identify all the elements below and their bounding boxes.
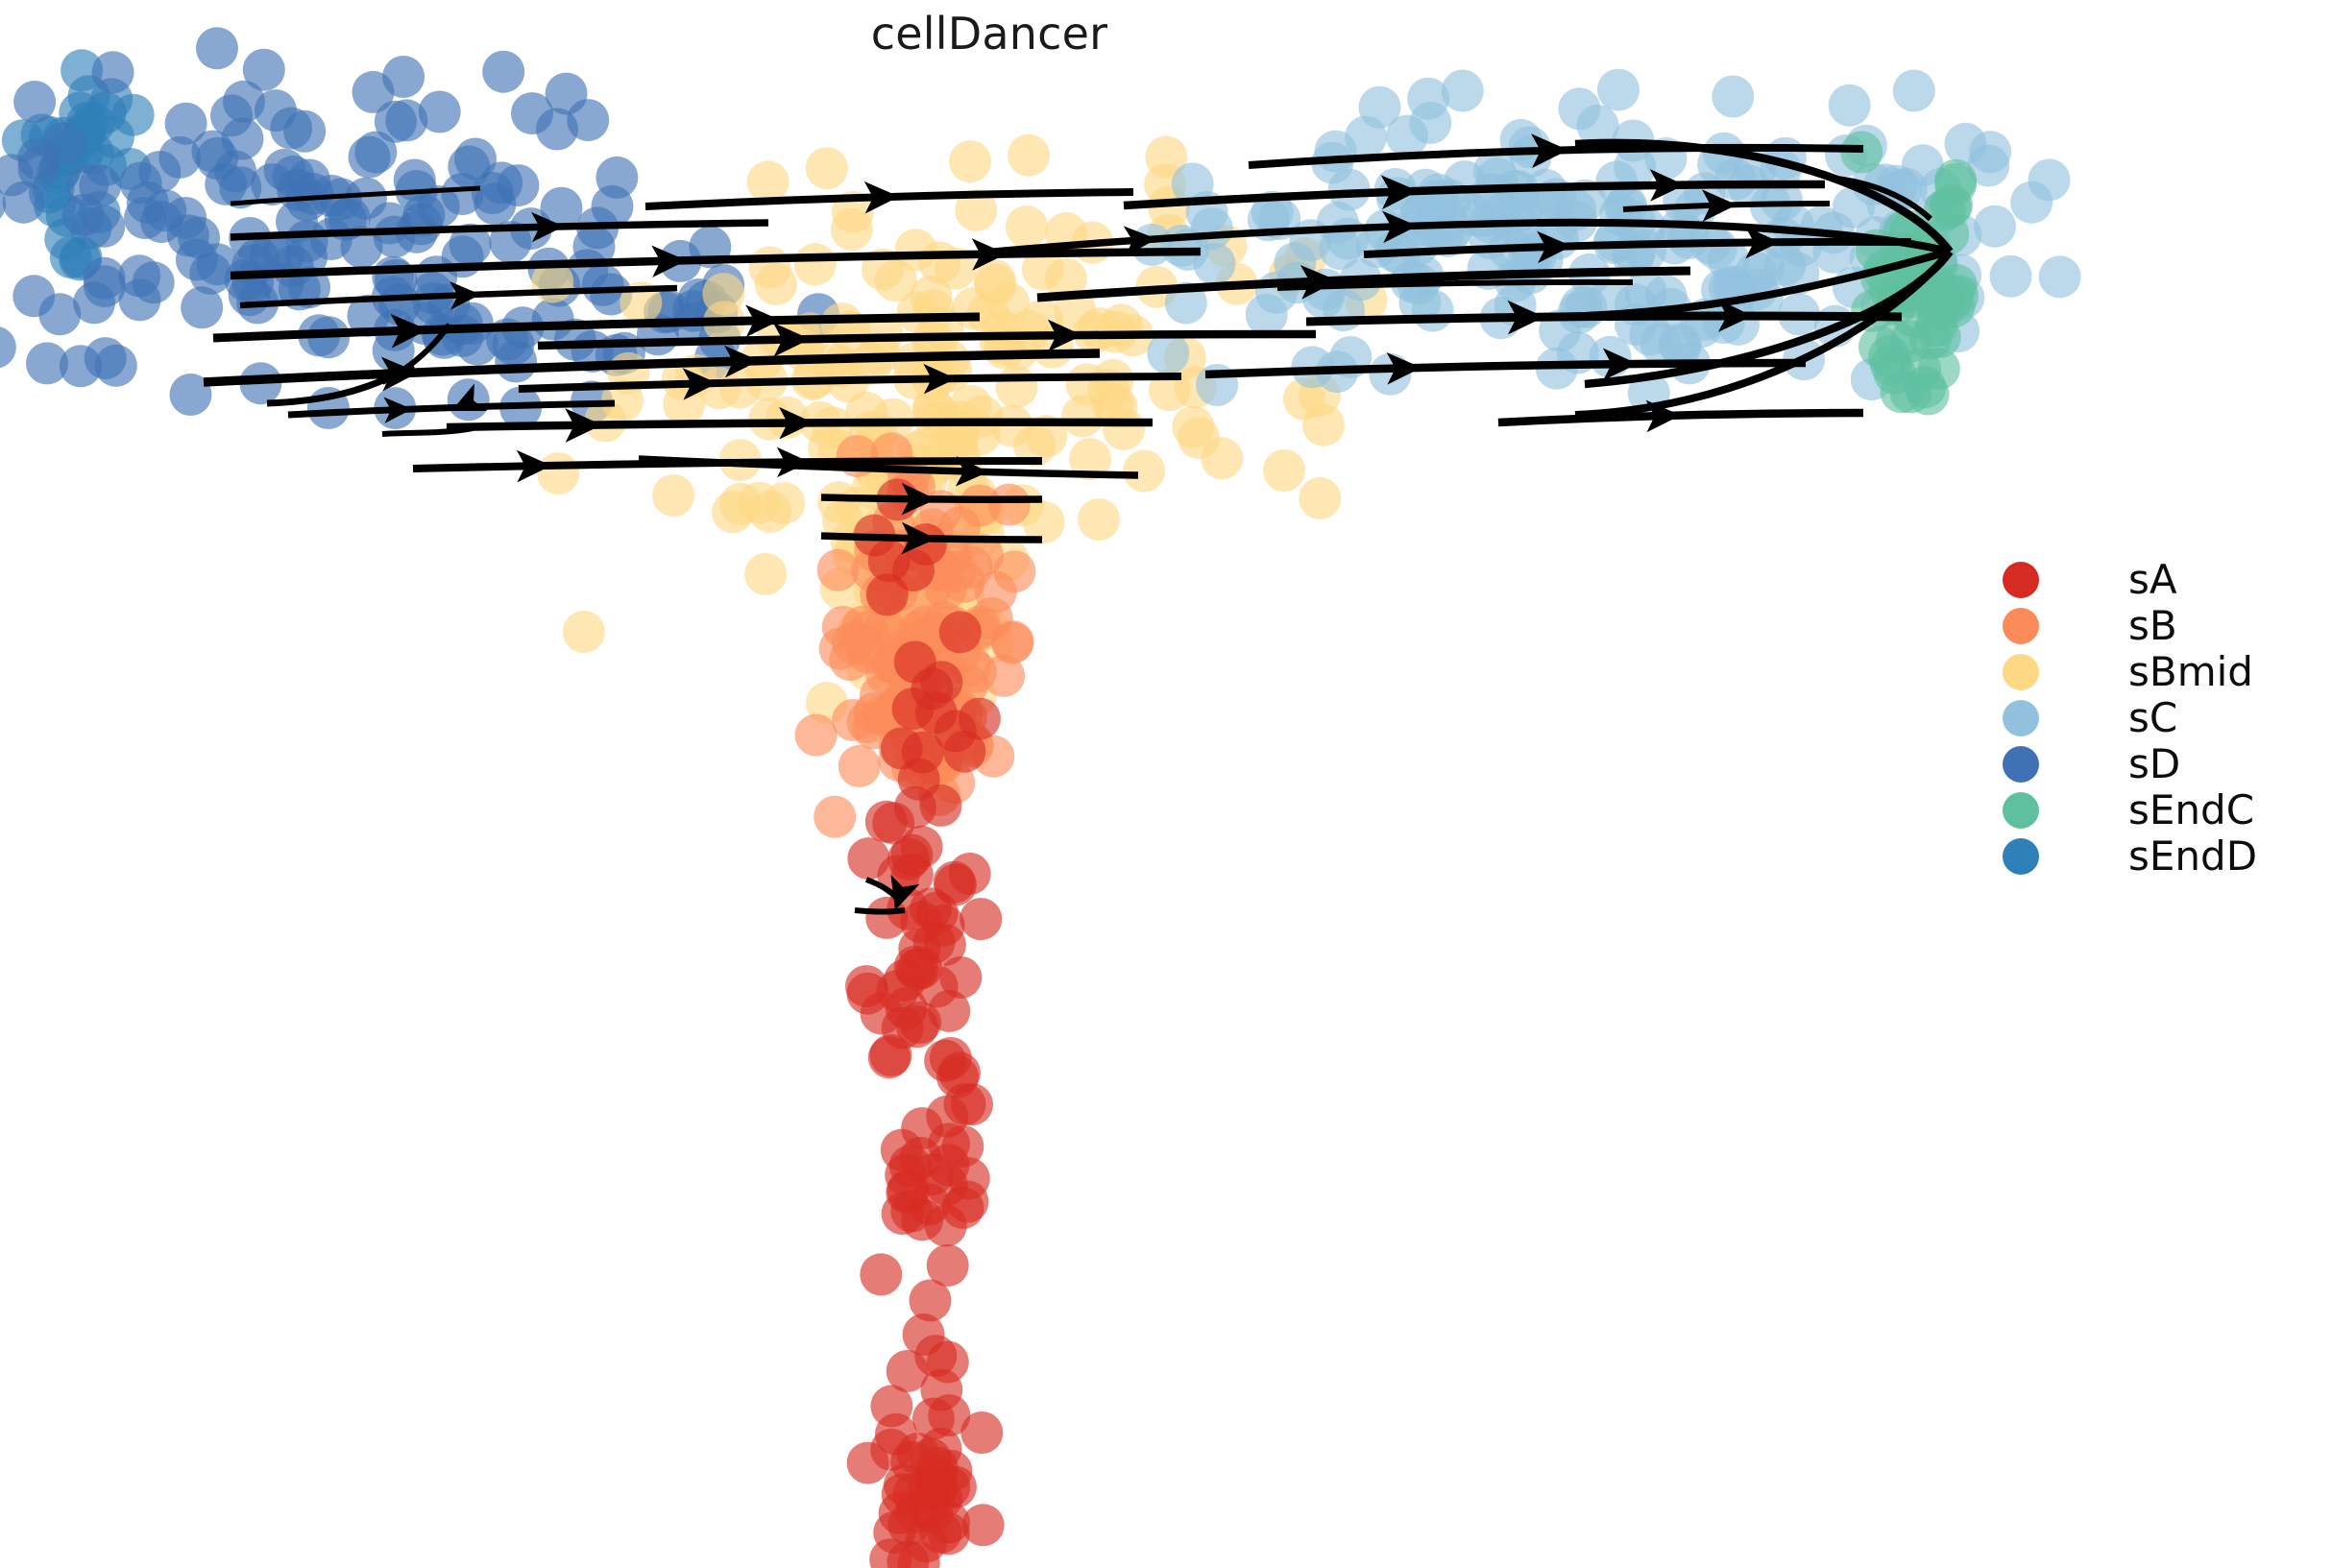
- legend-item-sd[interactable]: sD: [2003, 741, 2329, 787]
- streamline: [231, 252, 1201, 276]
- streamline: [231, 188, 480, 204]
- legend-item-label: sEndD: [2128, 836, 2257, 877]
- legend: sAsBsBmidsCsDsEndCsEndD: [2003, 557, 2329, 880]
- legend-swatch-icon: [2003, 608, 2039, 644]
- streamline: [1364, 242, 1911, 254]
- streamline: [855, 910, 905, 912]
- legend-item-sa[interactable]: sA: [2003, 557, 2329, 603]
- streamline: [519, 376, 1181, 389]
- legend-swatch-icon: [2003, 792, 2039, 829]
- legend-item-sb[interactable]: sB: [2003, 603, 2329, 649]
- streamline: [538, 334, 1316, 346]
- legend-item-sendc[interactable]: sEndC: [2003, 787, 2329, 833]
- legend-item-label: sBmid: [2128, 652, 2253, 692]
- legend-item-sc[interactable]: sC: [2003, 695, 2329, 741]
- legend-item-label: sA: [2128, 560, 2177, 600]
- legend-swatch-icon: [2003, 838, 2039, 875]
- legend-item-label: sEndC: [2128, 790, 2254, 831]
- legend-item-sendd[interactable]: sEndD: [2003, 833, 2329, 880]
- plot-canvas: [0, 0, 2332, 1568]
- figure-root: cellDancer sAsBsBmidsCsDsEndCsEndD: [0, 0, 2332, 1568]
- legend-swatch-icon: [2003, 562, 2039, 598]
- streamline: [231, 223, 768, 237]
- legend-item-sbmid[interactable]: sBmid: [2003, 649, 2329, 695]
- streamline: [1498, 413, 1863, 422]
- legend-item-label: sC: [2128, 698, 2177, 738]
- streamline: [382, 428, 473, 434]
- legend-item-label: sD: [2128, 744, 2180, 784]
- streamline: [1575, 252, 1950, 415]
- legend-swatch-icon: [2003, 746, 2039, 783]
- legend-swatch-icon: [2003, 654, 2039, 690]
- streamline-layer: [0, 0, 2332, 1568]
- legend-swatch-icon: [2003, 700, 2039, 736]
- legend-item-label: sB: [2128, 606, 2177, 646]
